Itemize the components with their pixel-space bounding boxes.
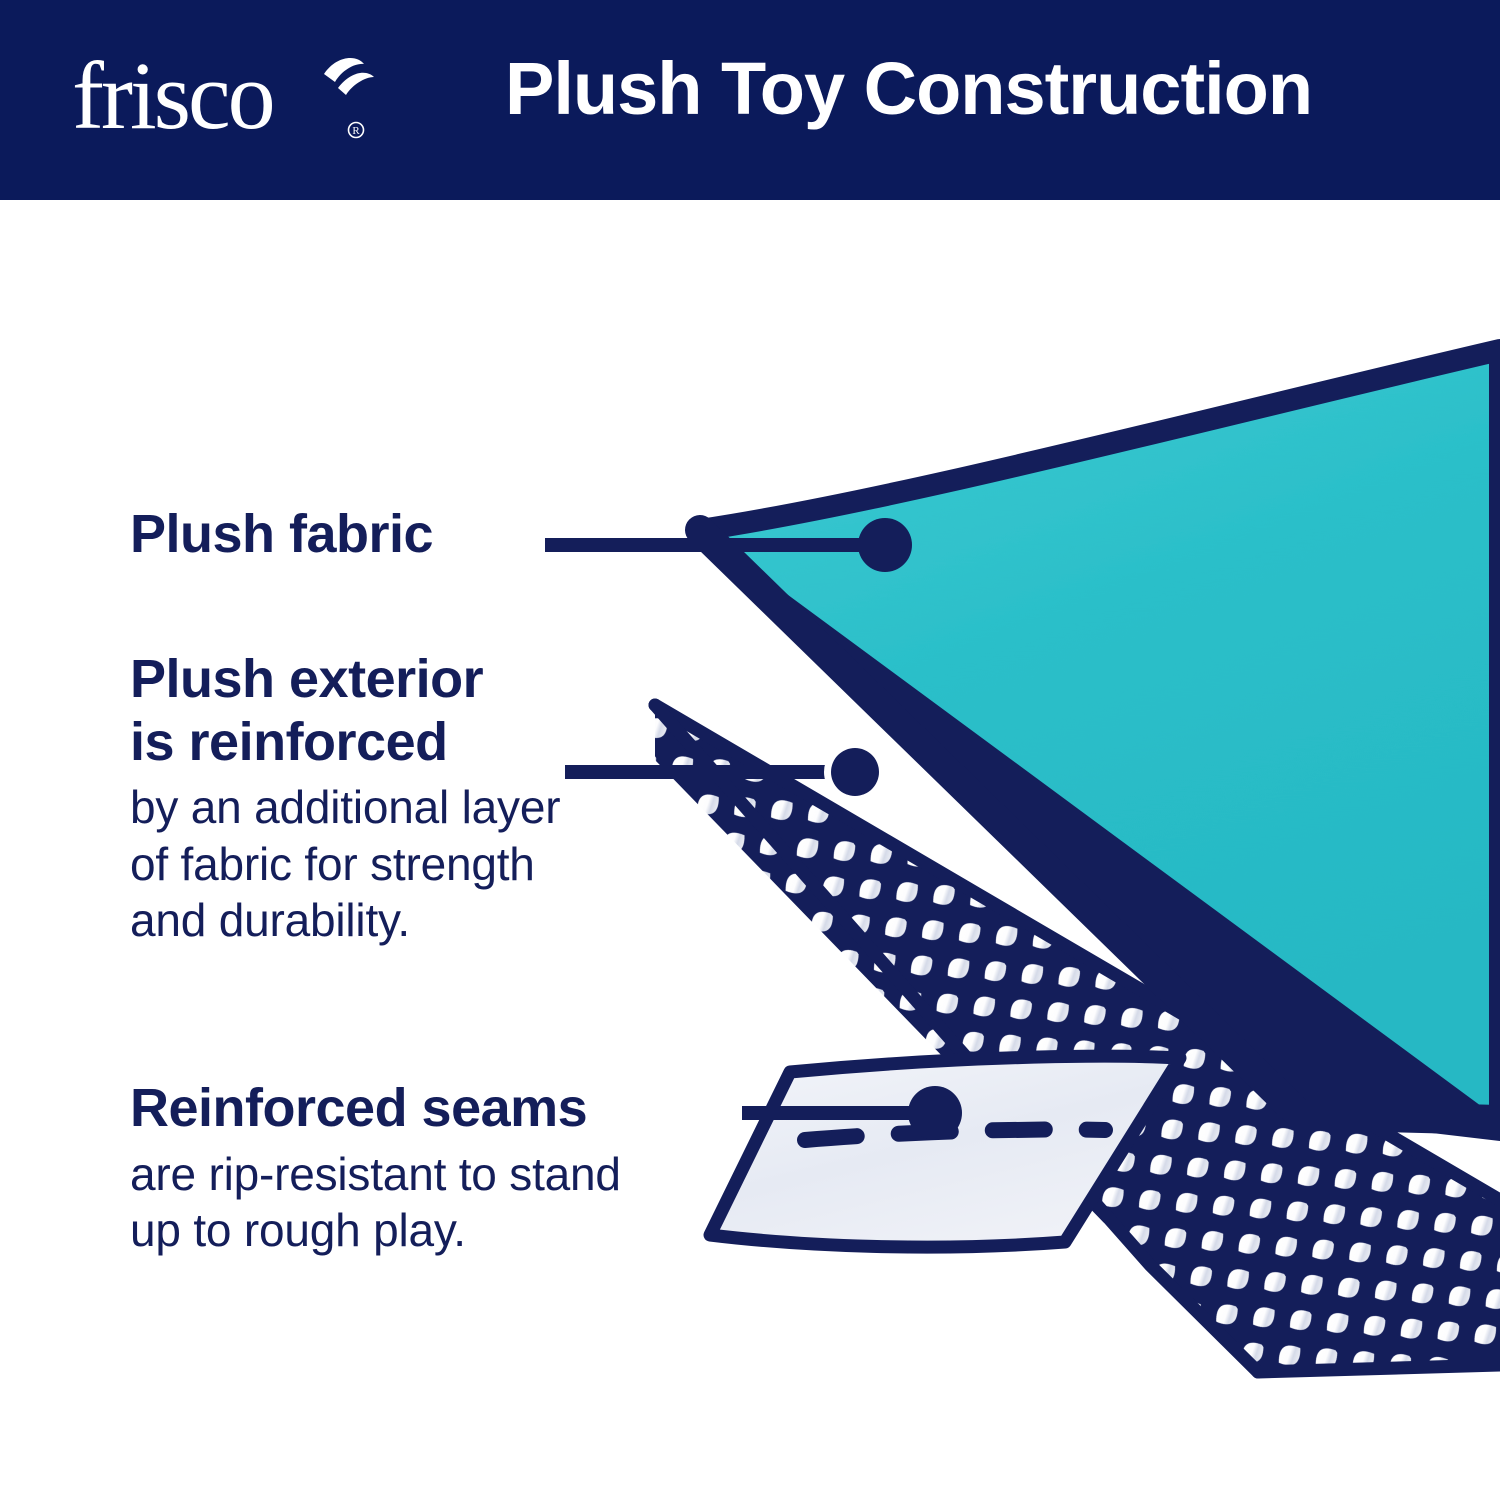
callout-plush-exterior-body: by an additional layer of fabric for str… — [130, 779, 560, 949]
page-header: frisco R Plush Toy Construction — [0, 0, 1500, 200]
svg-text:R: R — [352, 125, 360, 137]
page-title: Plush Toy Construction — [505, 46, 1312, 131]
callout-reinforced-seams: Reinforced seams are rip-resistant to st… — [130, 1077, 621, 1259]
callout-reinforced-seams-heading: Reinforced seams — [130, 1077, 621, 1140]
infographic-page: frisco R Plush Toy Construction — [0, 0, 1500, 1500]
callout-plush-exterior: Plush exterior is reinforced by an addit… — [130, 648, 560, 949]
leader-dot-reinforced-seams — [908, 1086, 962, 1140]
svg-text:frisco: frisco — [72, 44, 273, 149]
callout-reinforced-seams-body: are rip-resistant to stand up to rough p… — [130, 1146, 621, 1259]
leader-dot-plush-fabric — [858, 518, 912, 572]
leader-dot-plush-exterior — [831, 748, 879, 796]
callout-plush-exterior-heading: Plush exterior is reinforced — [130, 648, 560, 773]
frisco-logo-icon: frisco R — [72, 44, 382, 154]
callout-plush-fabric-heading: Plush fabric — [130, 503, 433, 566]
seam-flap-layer — [700, 1056, 1180, 1258]
callout-plush-fabric: Plush fabric — [130, 503, 433, 572]
frisco-logo: frisco R — [72, 44, 382, 154]
